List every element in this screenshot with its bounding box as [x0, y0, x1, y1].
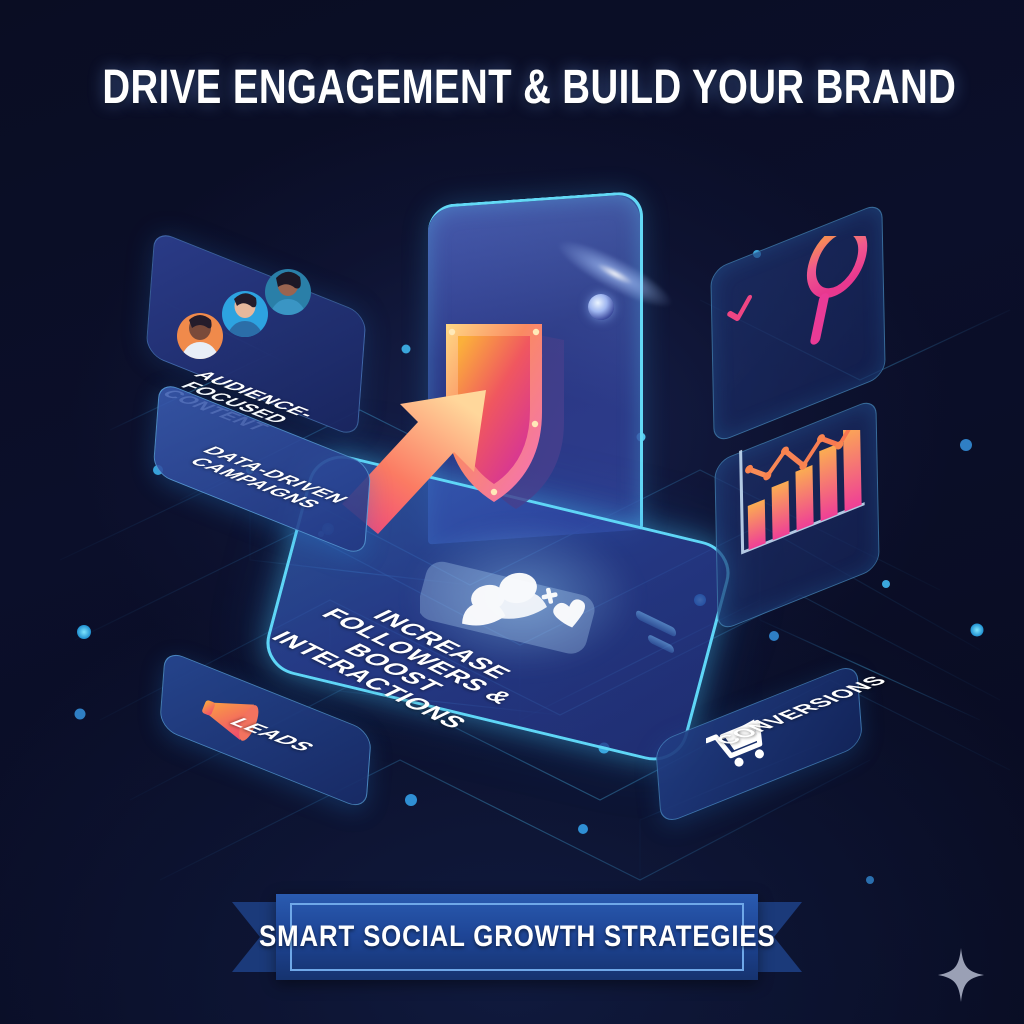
bar — [748, 499, 766, 550]
ribbon-inner-border: SMART SOCIAL GROWTH STRATEGIES — [290, 903, 744, 971]
avatar — [177, 313, 223, 360]
ribbon-body: SMART SOCIAL GROWTH STRATEGIES — [276, 894, 758, 980]
magnifying-glass-icon — [788, 236, 870, 346]
bar — [795, 465, 813, 531]
ribbon-label: SMART SOCIAL GROWTH STRATEGIES — [259, 920, 775, 954]
shield-with-up-arrow-icon — [442, 300, 622, 530]
infographic-canvas: DRIVE ENGAGEMENT & BUILD YOUR BRAND INCR… — [0, 0, 1024, 1024]
avatar-group-icon — [170, 258, 320, 368]
bar — [819, 444, 837, 521]
search-panel-content — [712, 236, 892, 416]
footer-ribbon: SMART SOCIAL GROWTH STRATEGIES — [232, 894, 802, 980]
text-lines — [731, 246, 789, 348]
bar — [843, 430, 862, 512]
sparkle-star-icon — [936, 946, 986, 1004]
avatar — [265, 269, 311, 316]
bar — [772, 481, 790, 541]
avatar — [222, 291, 268, 338]
page-title: DRIVE ENGAGEMENT & BUILD YOUR BRAND — [102, 60, 921, 115]
bar-chart-icon — [716, 430, 891, 610]
